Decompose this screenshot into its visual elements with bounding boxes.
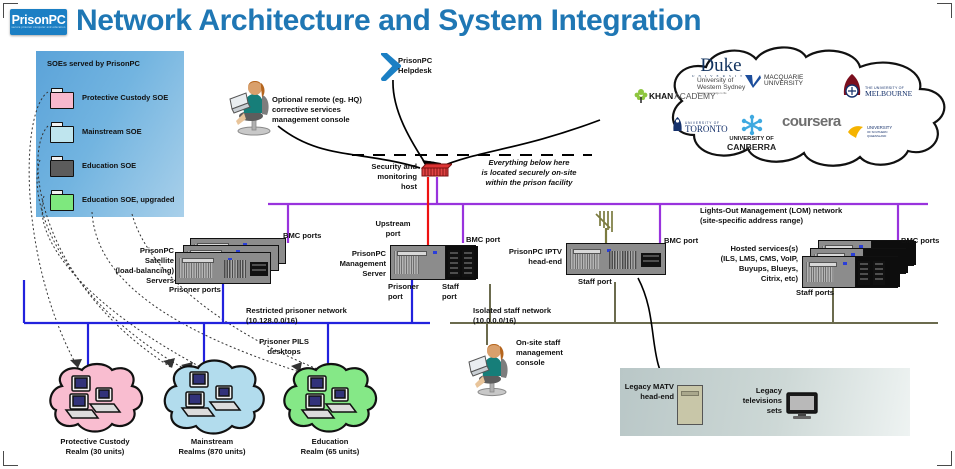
hosted-service-server-1 — [802, 256, 898, 288]
folder-icon-education — [50, 156, 73, 175]
bmc-port-mgmt-label: BMC port — [466, 235, 500, 245]
prisoner-pils-desktops-label: Prisoner PILS desktops — [244, 337, 324, 357]
logo-usq: UNIVERSITY OF SOUTHERN QUEENSLAND — [847, 124, 892, 139]
legacy-matv-headend-icon — [677, 385, 703, 425]
soe-legend-panel: SOEs served by PrisonPC Protective Custo… — [36, 51, 184, 217]
prisonpc-iptv-headend — [566, 243, 666, 275]
macquarie-chevron-icon — [744, 73, 762, 89]
upstream-port-label: Upstream port — [365, 219, 421, 239]
restricted-prisoner-network-label: Restricted prisoner network (10.128.0.0/… — [246, 306, 396, 326]
toronto-crest-icon — [672, 117, 683, 132]
realm-label-mainstream: Mainstream Realms (870 units) — [150, 437, 274, 457]
staff-port-mgmt-label: Staff port — [442, 282, 476, 302]
lom-network-label: Lights-Out Management (LOM) network (sit… — [700, 206, 880, 226]
legacy-matv-label: Legacy MATV head-end — [612, 382, 674, 402]
khan-tree-icon — [634, 88, 648, 104]
hosted-services-label: Hosted services(s) (ILS, LMS, CMS, VoIP,… — [712, 244, 798, 284]
prisonpc-logo: PrisonPC secure prisoner computer and ed… — [10, 9, 67, 35]
onsite-console-label: On-site staff management console — [516, 338, 596, 368]
soe-legend-label: Mainstream SOE — [82, 127, 142, 136]
logo-duke: Duke U N I V E R S I T Y — [692, 57, 750, 78]
management-server-label: PrisonPC Management Server — [326, 249, 386, 279]
satellite-servers-label: PrisonPC Satellite (load-balancing) Serv… — [112, 246, 174, 286]
logo-uws: University of Western Sydney Bringing kn… — [697, 78, 745, 98]
melbourne-crest-icon — [841, 73, 863, 99]
realm-pc-group-protective — [56, 374, 132, 426]
usq-bird-icon — [847, 124, 865, 139]
realm-pc-group-mainstream — [172, 370, 252, 426]
realm-label-protective-custody: Protective Custody Realm (30 units) — [36, 437, 154, 457]
bmc-ports-hosted-label: BMC ports — [901, 236, 939, 246]
security-monitoring-host-label: Security and monitoring host — [355, 162, 417, 192]
boundary-note: Everything below here is located securel… — [464, 158, 594, 188]
prisonpc-management-server — [390, 245, 476, 280]
security-monitoring-host-icon — [418, 163, 452, 179]
bmc-port-iptv-label: BMC port — [664, 236, 698, 246]
soe-legend-header: SOEs served by PrisonPC — [47, 59, 140, 68]
soe-legend-label: Education SOE, upgraded — [82, 195, 175, 204]
frame-corner-bottom-right — [937, 451, 952, 466]
soe-legend-item-mainstream: Mainstream SOE — [50, 122, 142, 141]
logo-coursera: coursera — [782, 113, 841, 130]
soe-legend-item-protective-custody: Protective Custody SOE — [50, 88, 168, 107]
iptv-headend-label: PrisonPC IPTV head-end — [500, 247, 562, 267]
soe-legend-item-education: Education SOE — [50, 156, 136, 175]
canberra-snowflake-icon — [739, 114, 765, 136]
frame-corner-bottom-left — [3, 451, 18, 466]
realm-label-education: Education Realm (65 units) — [272, 437, 388, 457]
staff-ports-hosted-label: Staff ports — [796, 288, 834, 298]
prisoner-ports-label: Prisoner ports — [169, 285, 221, 295]
page-title: Network Architecture and System Integrat… — [76, 4, 701, 38]
logo-primary-text: PrisonPC — [12, 14, 66, 26]
soe-legend-item-education-upgraded: Education SOE, upgraded — [50, 190, 175, 209]
bmc-ports-satellite-label: BMC ports — [283, 231, 321, 241]
legacy-televisions-label: Legacy televisions sets — [716, 386, 782, 416]
prisoner-port-label: Prisoner port — [388, 282, 428, 302]
helpdesk-label: PrisonPC Helpdesk — [398, 56, 468, 76]
isolated-staff-network-label: Isolated staff network (10.0.0.0/16) — [473, 306, 603, 326]
frame-corner-top-right — [937, 3, 952, 18]
staff-port-iptv-label: Staff port — [578, 277, 612, 287]
logo-canberra: UNIVERSITY OF CANBERRA — [727, 114, 776, 152]
logo-melbourne: THE UNIVERSITY OF MELBOURNE — [841, 73, 912, 99]
legacy-television-icon — [786, 392, 820, 420]
soe-legend-label: Protective Custody SOE — [82, 93, 168, 102]
tv-antenna-icon — [588, 208, 624, 246]
soe-legend-label: Education SOE — [82, 161, 136, 170]
logo-toronto: UNIVERSITY OF TORONTO — [672, 117, 728, 132]
satellite-server-1 — [175, 252, 271, 284]
logo-tagline: secure prisoner computer and education — [11, 26, 65, 30]
folder-icon-education-upgraded — [50, 190, 73, 209]
folder-icon-mainstream — [50, 122, 73, 141]
onsite-console-person-icon — [468, 338, 514, 398]
remote-console-label: Optional remote (eg. HQ) corrective serv… — [272, 95, 392, 125]
logo-macquarie: MACQUARIE UNIVERSITY — [744, 73, 803, 89]
internet-cloud-shape — [594, 43, 954, 173]
realm-pc-group-education — [292, 374, 368, 426]
diagram-canvas: PrisonPC secure prisoner computer and ed… — [0, 0, 955, 469]
folder-icon-protective-custody — [50, 88, 73, 107]
